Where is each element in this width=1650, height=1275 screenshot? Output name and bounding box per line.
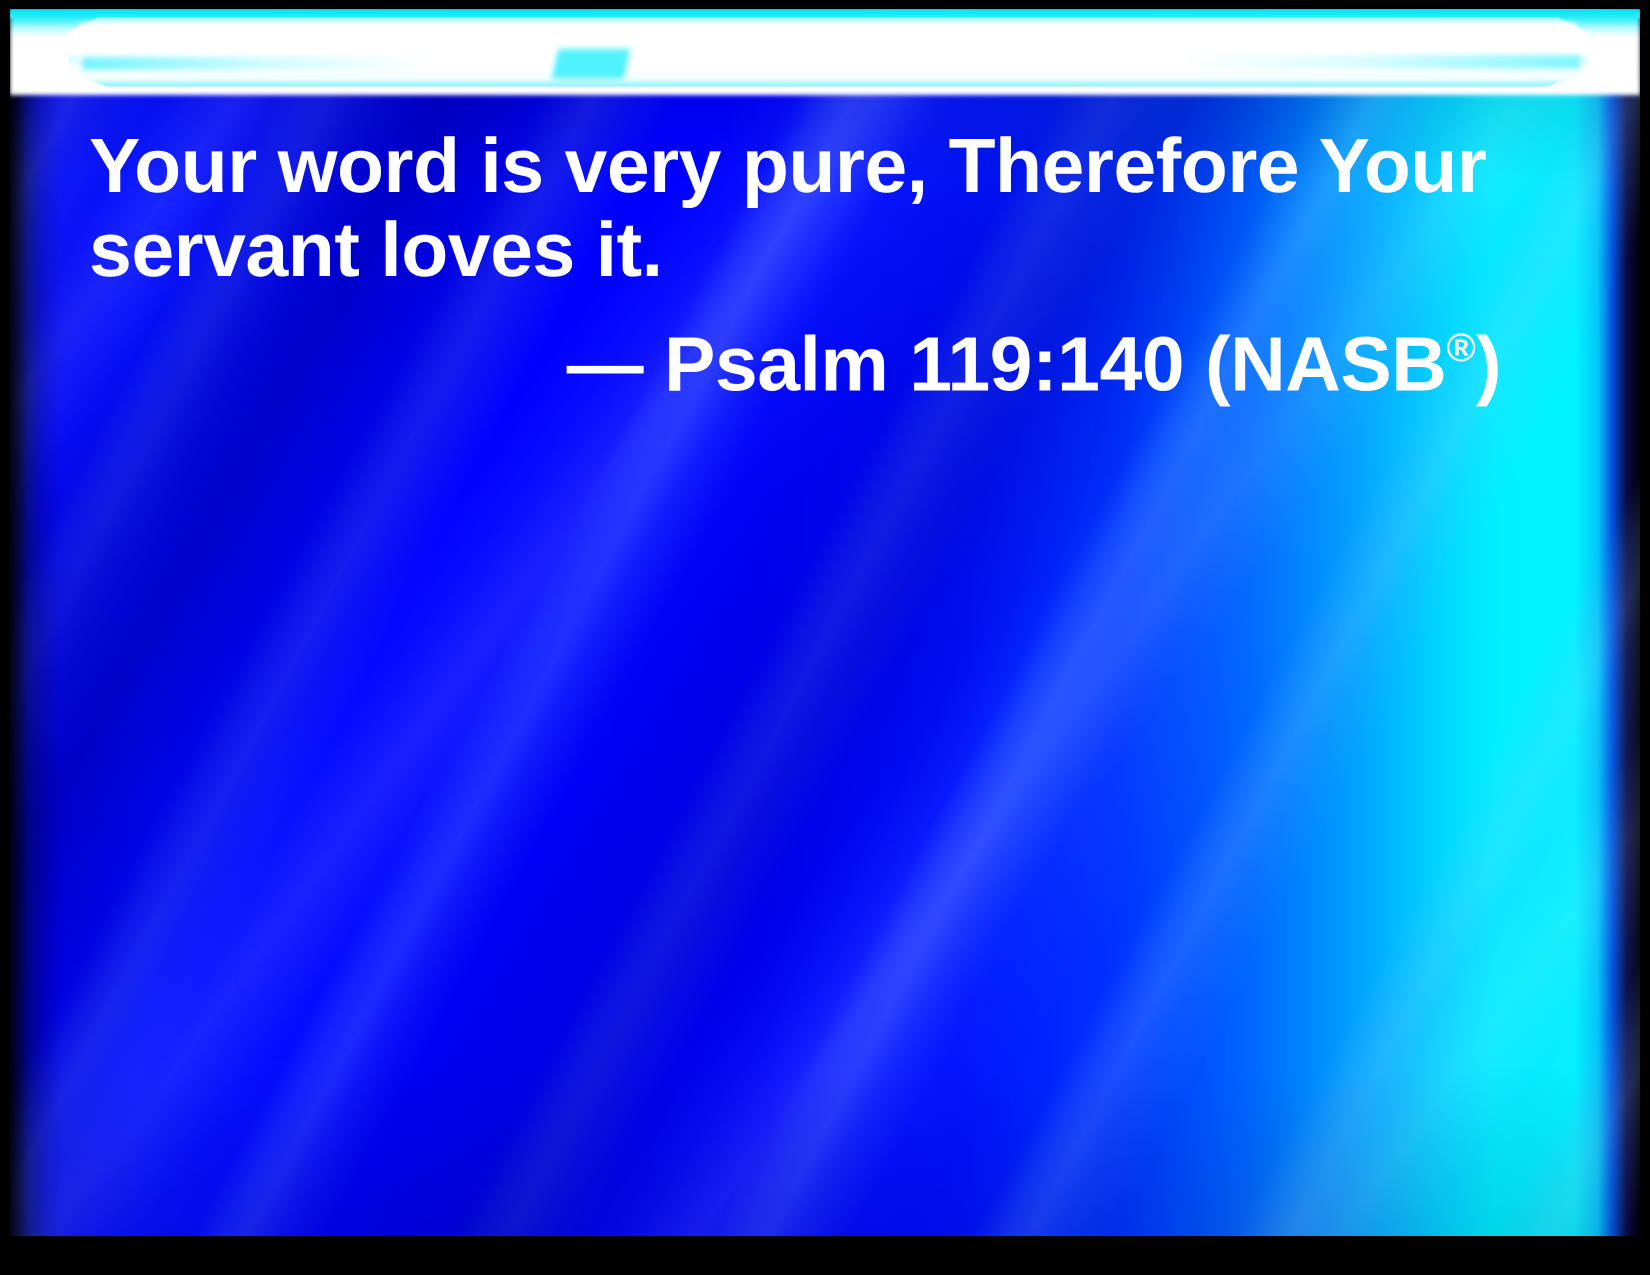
citation-translation: (NASB: [1205, 322, 1446, 408]
band-cyan-streak-left: [82, 57, 422, 70]
top-highlight-band: [10, 9, 1640, 109]
verse-slide: Your word is very pure, Therefore Yourse…: [0, 0, 1650, 1275]
band-cyan-patch: [552, 49, 630, 79]
citation-close-paren: ): [1476, 322, 1501, 408]
slide-canvas: Your word is very pure, Therefore Yourse…: [10, 9, 1640, 1236]
verse-citation: — Psalm 119:140 (NASB®): [89, 306, 1501, 407]
verse-line-1: Your word is very pure, Therefore Your: [89, 123, 1486, 209]
citation-reference: Psalm 119:140: [664, 322, 1184, 408]
registered-trademark-icon: ®: [1446, 326, 1476, 370]
band-cyan-streak-right: [1180, 55, 1580, 69]
citation-em-dash: —: [567, 322, 644, 408]
verse-line-2: servant loves it.: [89, 207, 663, 293]
verse-text: Your word is very pure, Therefore Yourse…: [89, 124, 1509, 292]
